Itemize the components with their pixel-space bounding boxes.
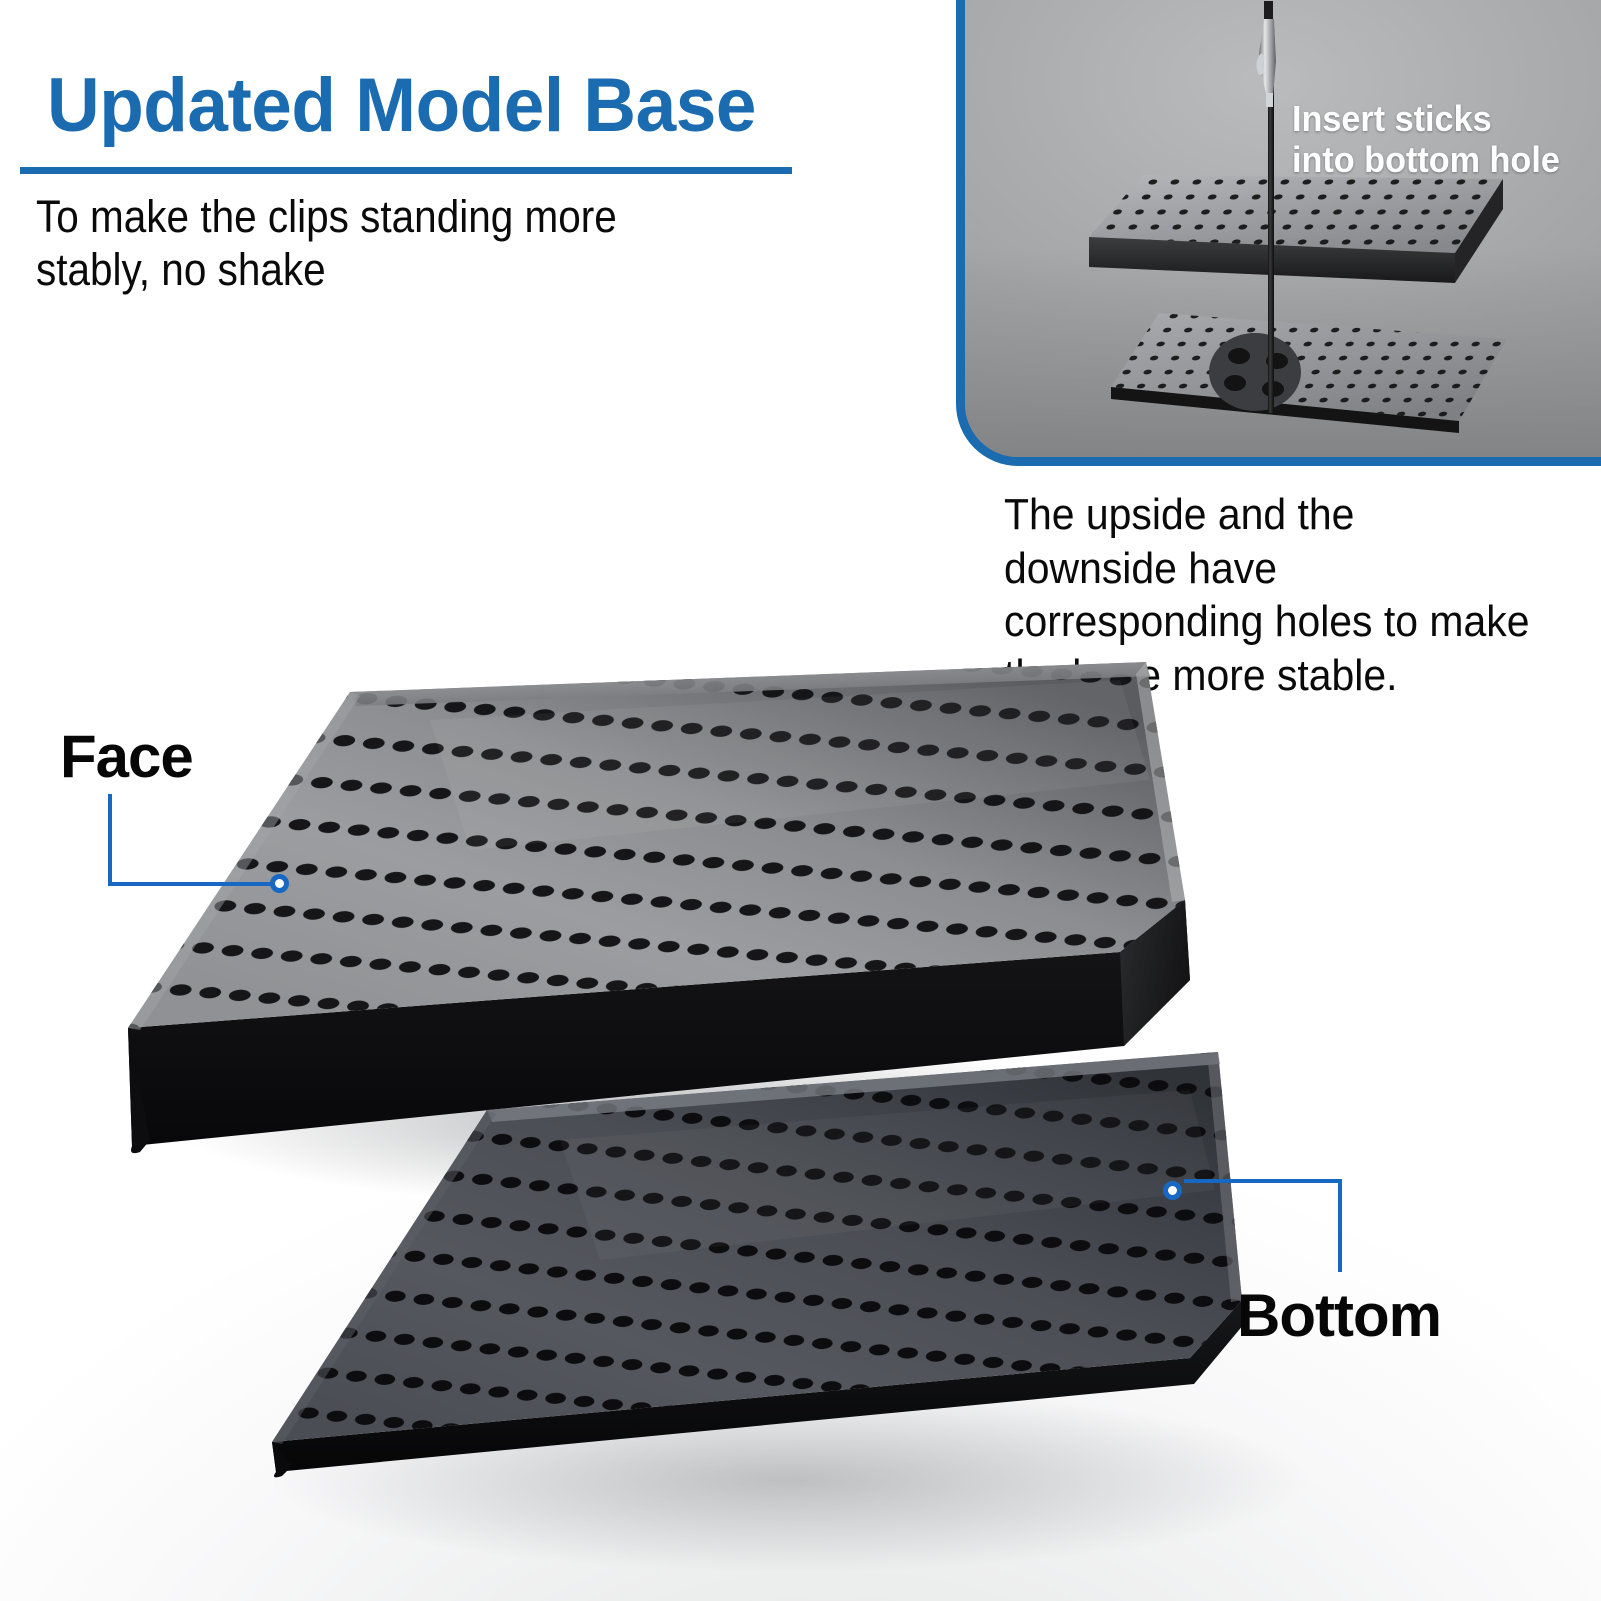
inset-lower-board-illustration — [1107, 309, 1517, 449]
bottom-label: Bottom — [1237, 1281, 1441, 1350]
infographic-canvas: Updated Model Base To make the clips sta… — [0, 0, 1601, 1601]
inset-illustration-panel: Insert sticks into bottom hole — [956, 0, 1601, 466]
page-subtitle: To make the clips standing more stably, … — [36, 190, 738, 296]
inset-overlay-caption: Insert sticks into bottom hole — [1292, 99, 1560, 180]
bottom-callout-dot — [1163, 1181, 1182, 1200]
face-label: Face — [60, 722, 193, 791]
product-illustration — [0, 600, 1601, 1601]
alligator-clip-illustration — [1251, 1, 1285, 133]
face-callout-dot — [270, 874, 289, 893]
title-underline-rule — [20, 167, 792, 174]
inset-upper-board-illustration — [1083, 175, 1503, 305]
page-title: Updated Model Base — [47, 62, 756, 149]
